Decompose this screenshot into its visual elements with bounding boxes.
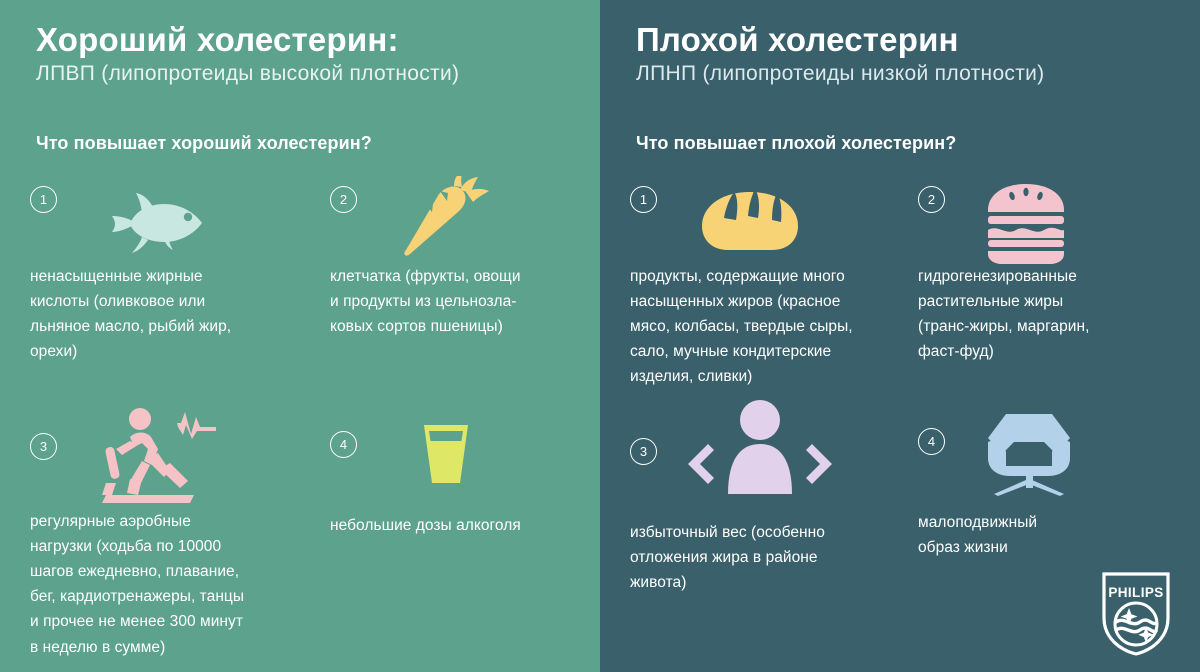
good-panel-title: Хороший холестерин: (36, 22, 576, 59)
good-panel-header: Хороший холестерин: ЛПВП (липопротеиды в… (36, 22, 576, 86)
list-item-text: малоподвижный образ жизни (918, 510, 1168, 560)
bad-panel-subtitle: ЛПНП (липопротеиды низкой плотности) (636, 61, 1176, 86)
item-number-badge: 4 (918, 428, 945, 455)
carrot-icon (392, 176, 502, 267)
item-number-badge: 3 (30, 433, 57, 460)
armchair-icon (976, 408, 1086, 501)
list-item-text: ненасыщенные жирные кислоты (оливковое и… (30, 264, 280, 364)
good-panel-subtitle: ЛПВП (липопротеиды высокой плотности) (36, 61, 576, 86)
item-number-badge: 1 (630, 186, 657, 213)
cholesterol-infographic: Хороший холестерин: ЛПВП (липопротеиды в… (0, 0, 1200, 672)
bad-panel-question: Что повышает плохой холестерин? (636, 133, 956, 154)
burger-icon (976, 178, 1086, 269)
philips-shield-logo: PHILIPS (1100, 570, 1172, 658)
list-item-text: клетчатка (фрукты, овощи и продукты из ц… (330, 264, 578, 339)
item-number-badge: 4 (330, 431, 357, 458)
bread-icon (692, 178, 812, 265)
item-number-badge: 2 (918, 186, 945, 213)
treadmill-icon (92, 403, 222, 513)
glass-icon (400, 413, 490, 498)
good-cholesterol-panel: Хороший холестерин: ЛПВП (липопротеиды в… (0, 0, 600, 672)
bad-panel-header: Плохой холестерин ЛПНП (липопротеиды низ… (636, 22, 1176, 86)
list-item-text: гидрогенезированные растительные жиры (т… (918, 264, 1178, 364)
item-number-badge: 2 (330, 186, 357, 213)
item-number-badge: 1 (30, 186, 57, 213)
bad-cholesterol-panel: Плохой холестерин ЛПНП (липопротеиды низ… (600, 0, 1200, 672)
overweight-person-icon (680, 398, 840, 508)
svg-text:PHILIPS: PHILIPS (1108, 585, 1163, 600)
fish-icon (98, 181, 218, 266)
bad-panel-title: Плохой холестерин (636, 22, 1176, 59)
list-item-text: небольшие дозы алкоголя (330, 513, 580, 538)
list-item-text: продукты, содержащие много насыщенных жи… (630, 264, 894, 390)
item-number-badge: 3 (630, 438, 657, 465)
list-item-text: регулярные аэробные нагрузки (ходьба по … (30, 509, 312, 660)
list-item-text: избыточный вес (особенно отложения жира … (630, 520, 894, 595)
good-panel-question: Что повышает хороший холестерин? (36, 133, 372, 154)
